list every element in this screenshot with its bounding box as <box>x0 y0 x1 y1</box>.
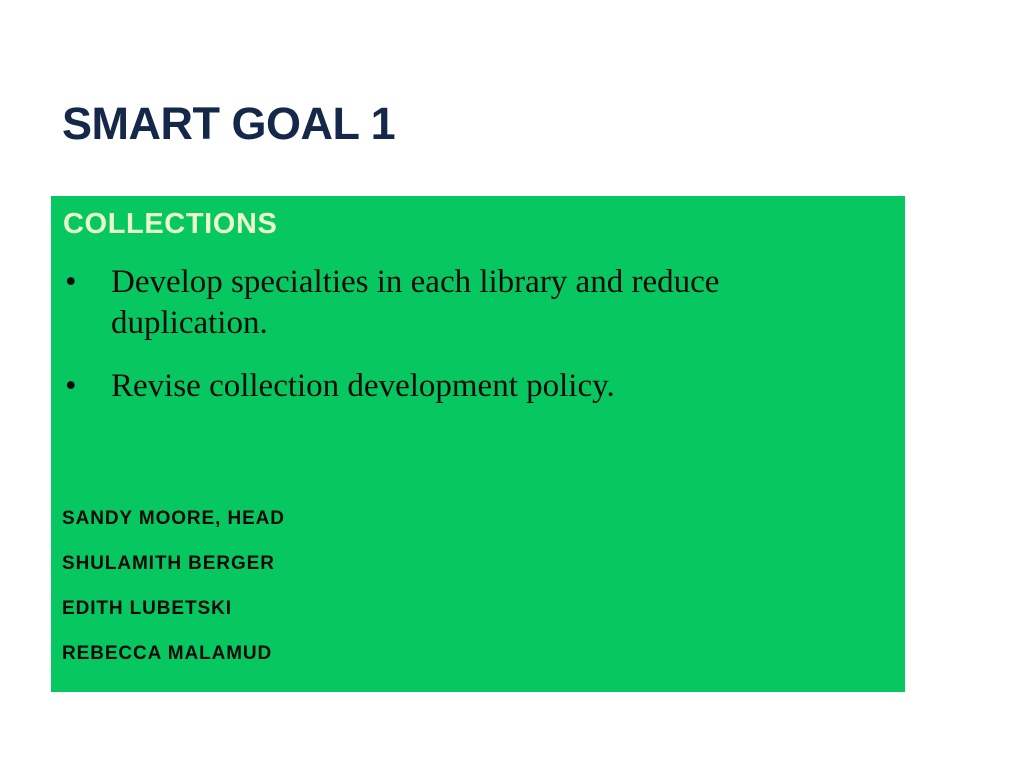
bullet-point-icon: • <box>63 366 111 407</box>
panel-heading: COLLECTIONS <box>63 208 277 241</box>
credits-list: SANDY MOORE, HEAD SHULAMITH BERGER EDITH… <box>62 496 762 676</box>
credit-line: REBECCA MALAMUD <box>62 631 762 676</box>
bullet-point-icon: • <box>63 262 111 303</box>
slide: SMART GOAL 1 COLLECTIONS • Develop speci… <box>0 0 1024 768</box>
page-title: SMART GOAL 1 <box>62 100 395 147</box>
content-panel: COLLECTIONS • Develop specialties in eac… <box>51 196 905 692</box>
list-item-text: Revise collection development policy. <box>111 366 871 407</box>
list-item: • Develop specialties in each library an… <box>63 262 893 344</box>
credit-line: SANDY MOORE, HEAD <box>62 496 762 541</box>
list-item: • Revise collection development policy. <box>63 366 893 407</box>
credit-line: EDITH LUBETSKI <box>62 586 762 631</box>
list-item-text: Develop specialties in each library and … <box>111 262 871 344</box>
credit-line: SHULAMITH BERGER <box>62 541 762 586</box>
bullet-list: • Develop specialties in each library an… <box>63 262 893 429</box>
